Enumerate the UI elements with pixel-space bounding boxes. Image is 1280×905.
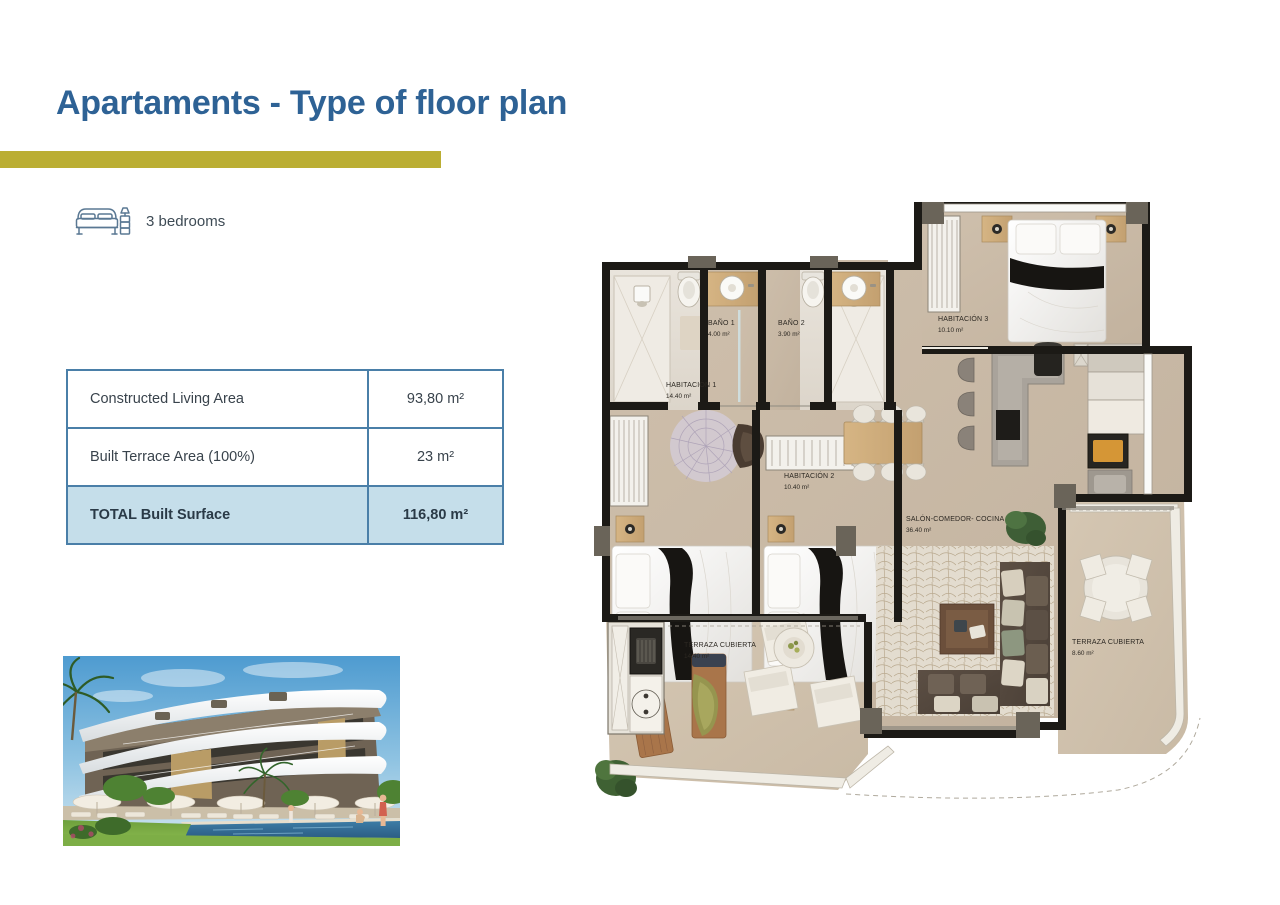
room-area-bano2: 3.90 m²: [778, 331, 800, 338]
room-label-habitacion2: HABITACIÓN 2: [784, 471, 835, 480]
row-value: 93,80 m²: [368, 370, 503, 428]
row-label: Built Terrace Area (100%): [67, 428, 368, 486]
bedrooms-badge: 3 bedrooms: [74, 203, 225, 239]
table-row: Built Terrace Area (100%) 23 m²: [67, 428, 503, 486]
room-area-salon: 36.40 m²: [906, 527, 931, 534]
room-area-habitacion3: 10.10 m²: [938, 327, 963, 334]
surface-spec-table: Constructed Living Area 93,80 m² Built T…: [66, 369, 504, 545]
room-area-habitacion2: 10.40 m²: [784, 484, 809, 491]
room-area-bano1: 4.00 m²: [708, 331, 730, 338]
room-label-bano2: BAÑO 2: [778, 318, 805, 327]
bedrooms-label: 3 bedrooms: [146, 213, 225, 230]
document-page: Apartaments - Type of floor plan: [0, 0, 1280, 905]
page-title: Apartaments - Type of floor plan: [56, 84, 567, 123]
room-area-terraza1: 14.40 m²: [684, 653, 709, 660]
bed-icon: [74, 203, 132, 239]
room-label-terraza2: TERRAZA CUBIERTA: [1072, 639, 1144, 646]
room-area-habitacion1: 14.40 m²: [666, 393, 691, 400]
room-label-terraza1: TERRAZA CUBIERTA: [684, 642, 756, 649]
building-exterior-render: [63, 656, 400, 846]
room-label-salon: SALÓN-COMEDOR- COCINA: [906, 514, 1004, 523]
apartment-floor-plan: BAÑO 1 4.00 m² BAÑO 2 3.90 m² HABITACIÓN…: [588, 198, 1218, 823]
row-label: Constructed Living Area: [67, 370, 368, 428]
table-row-total: TOTAL Built Surface 116,80 m²: [67, 486, 503, 544]
accent-rule: [0, 151, 441, 168]
room-label-bano1: BAÑO 1: [708, 318, 735, 327]
room-label-habitacion1: HABITACIÓN 1: [666, 380, 717, 389]
table-row: Constructed Living Area 93,80 m²: [67, 370, 503, 428]
row-value: 23 m²: [368, 428, 503, 486]
row-label: TOTAL Built Surface: [67, 486, 368, 544]
room-area-terraza2: 8.60 m²: [1072, 650, 1094, 657]
room-label-habitacion3: HABITACIÓN 3: [938, 314, 989, 323]
row-value: 116,80 m²: [368, 486, 503, 544]
